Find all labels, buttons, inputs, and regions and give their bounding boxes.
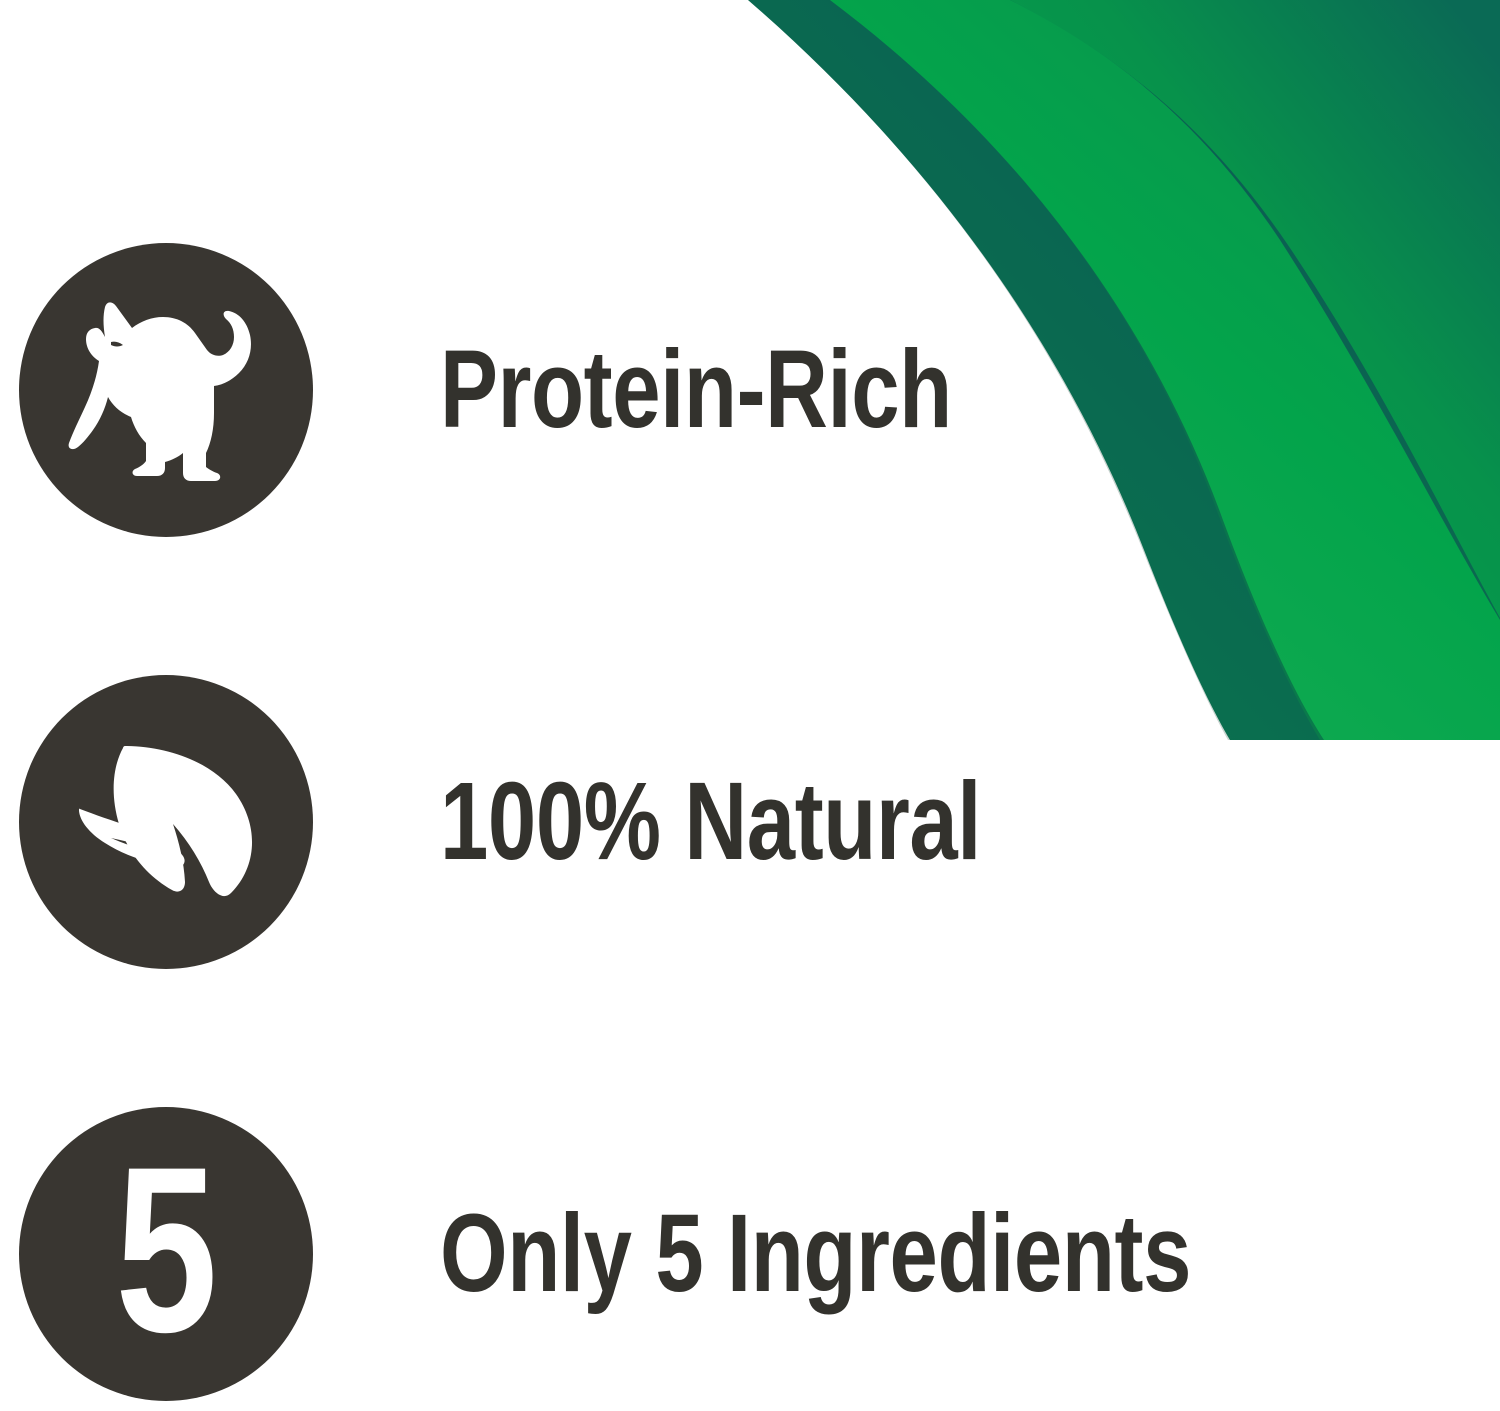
number-five-icon: 5 [116,1132,217,1368]
feature-row: Protein-Rich [0,240,1500,540]
feature-row: 100% Natural [0,672,1500,972]
feature-badge [19,675,313,969]
leaf-icon [55,722,277,922]
feature-label: Protein-Rich [440,335,952,445]
feature-badge: 5 [19,1107,313,1401]
feature-label: Only 5 Ingredients [440,1199,1191,1309]
feature-badge [19,243,313,537]
feature-label: 100% Natural [440,767,981,877]
cat-icon [59,293,274,488]
product-feature-panel: Protein-Rich 100% Natural 5 Only 5 Ingre… [0,0,1500,1411]
feature-row: 5 Only 5 Ingredients [0,1104,1500,1404]
